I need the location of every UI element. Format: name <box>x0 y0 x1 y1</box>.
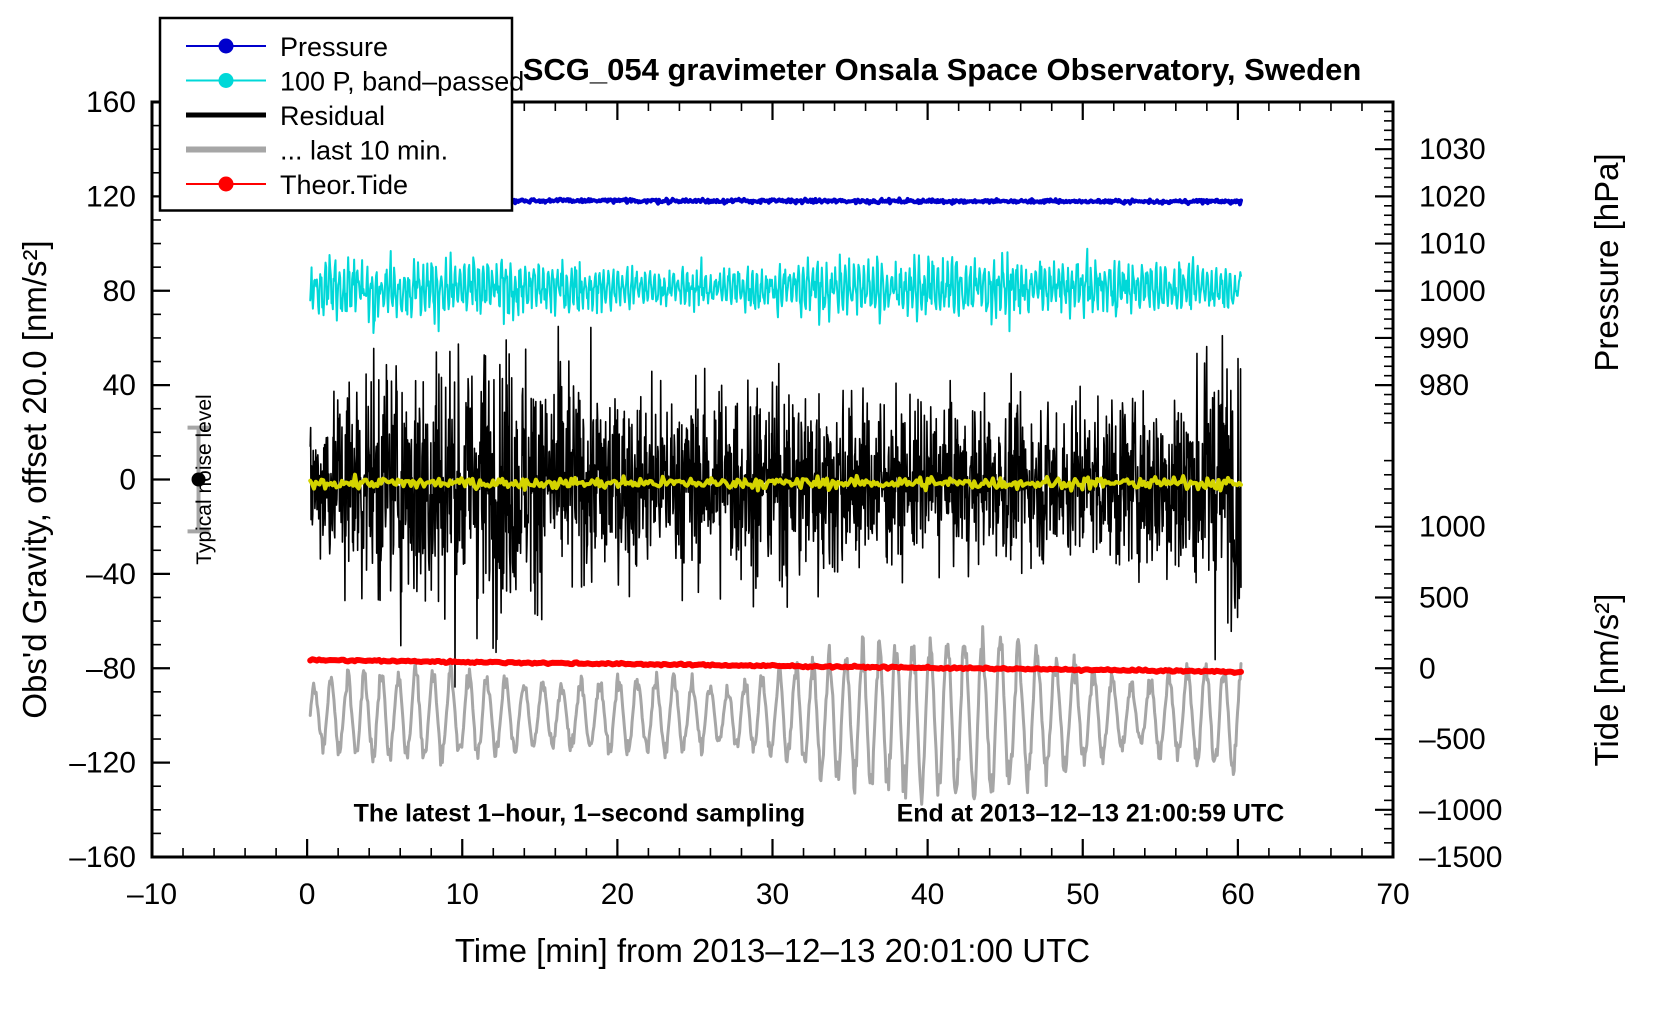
tide-axis-title: Tide [nm/s²] <box>1588 594 1625 767</box>
x-tick-label: 70 <box>1376 878 1409 911</box>
legend-label: 100 P, band–passed <box>280 67 524 97</box>
x-tick-label: 0 <box>299 878 316 911</box>
y-tick-label: 40 <box>103 369 136 402</box>
legend-label: Residual <box>280 101 385 131</box>
y-tick-label: 80 <box>103 275 136 308</box>
y-tick-label: –120 <box>69 747 136 780</box>
x-tick-label: 30 <box>756 878 789 911</box>
chart-legend[interactable]: Pressure100 P, band–passedResidual... la… <box>160 18 524 211</box>
legend-label: Theor.Tide <box>280 170 408 200</box>
series-last-10-min <box>310 627 1241 805</box>
pressure-tick-label: 1030 <box>1419 133 1486 166</box>
legend-marker-dot <box>219 73 234 88</box>
tide-tick-label: –500 <box>1419 723 1486 756</box>
y-tick-label: –40 <box>86 558 136 591</box>
pressure-axis-title: Pressure [hPa] <box>1588 153 1625 371</box>
legend-label: ... last 10 min. <box>280 136 448 166</box>
x-axis-title: Time [min] from 2013–12–13 20:01:00 UTC <box>455 932 1090 969</box>
y-tick-label: 120 <box>86 180 136 213</box>
latest-sampling-note: The latest 1–hour, 1–second sampling <box>354 800 806 828</box>
plot-traces <box>310 198 1241 804</box>
tide-tick-label: –1000 <box>1419 794 1502 827</box>
x-tick-label: 50 <box>1066 878 1099 911</box>
tide-tick-label: 1000 <box>1419 511 1486 544</box>
legend-marker-dot <box>219 39 234 54</box>
y-tick-label: –80 <box>86 652 136 685</box>
pressure-tick-label: 990 <box>1419 322 1469 355</box>
tide-tick-label: 500 <box>1419 581 1469 614</box>
x-tick-label: 20 <box>601 878 634 911</box>
pressure-tick-label: 980 <box>1419 369 1469 402</box>
y-tick-label: 0 <box>119 464 136 497</box>
tide-tick-label: –1500 <box>1419 841 1502 874</box>
pressure-tick-label: 1000 <box>1419 275 1486 308</box>
series-100-p-band-passed <box>310 249 1241 333</box>
end-time-note: End at 2013–12–13 21:00:59 UTC <box>897 800 1285 828</box>
pressure-tick-label: 1020 <box>1419 180 1486 213</box>
noise-level-label: Typical noise level <box>193 394 216 564</box>
y-tick-label: 160 <box>86 86 136 119</box>
y-axis-title: Obs'd Gravity, offset 20.0 [nm/s²] <box>16 240 53 718</box>
series-residual <box>310 326 1241 687</box>
x-tick-label: 60 <box>1221 878 1254 911</box>
legend-label: Pressure <box>280 32 388 62</box>
y-tick-label: –160 <box>69 841 136 874</box>
x-tick-label: 10 <box>446 878 479 911</box>
tide-tick-label: 0 <box>1419 652 1436 685</box>
pressure-tick-label: 1010 <box>1419 228 1486 261</box>
legend-marker-dot <box>219 177 234 192</box>
gravimeter-chart: –1001020304050607016012080400–40–80–120–… <box>0 0 1660 1020</box>
x-tick-label: –10 <box>127 878 177 911</box>
chart-title: SCG_054 gravimeter Onsala Space Observat… <box>523 52 1362 87</box>
x-tick-label: 40 <box>911 878 944 911</box>
chart-root: –1001020304050607016012080400–40–80–120–… <box>0 0 1660 1020</box>
